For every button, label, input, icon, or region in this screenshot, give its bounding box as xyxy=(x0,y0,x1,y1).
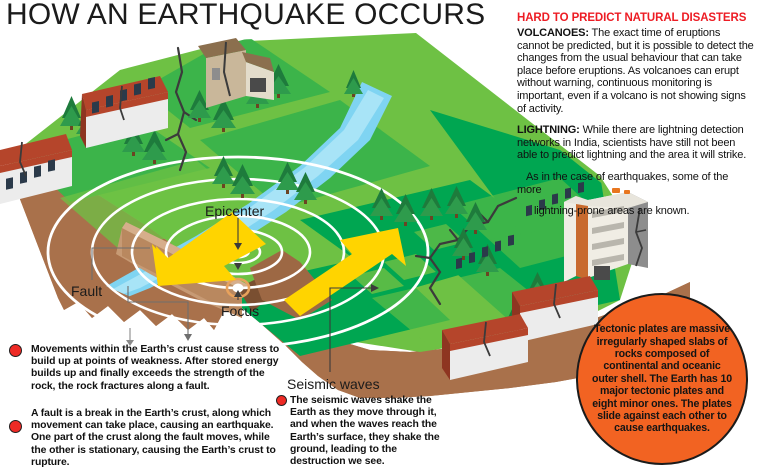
bullet-movements-text: Movements within the Earth’s crust cause… xyxy=(31,344,279,392)
label-fault: Fault xyxy=(71,283,102,299)
infographic-canvas: HOW AN EARTHQUAKE OCCURS Epicenter Focus… xyxy=(0,0,758,466)
bullet-fault: A fault is a break in the Earth’s crust,… xyxy=(31,408,283,469)
volcanoes-body: The exact time of eruptions cannot be pr… xyxy=(517,27,754,115)
bullet-dot-icon xyxy=(9,420,22,433)
bullet-dot-icon xyxy=(9,344,22,357)
tectonic-plates-callout: Tectonic plates are massive irregularly … xyxy=(576,293,748,465)
lightning-paragraph-3: lightning-prone areas are known. xyxy=(517,205,755,218)
hard-to-predict-panel: HARD TO PREDICT NATURAL DISASTERS VOLCAN… xyxy=(517,12,755,227)
volcanoes-label: VOLCANOES: xyxy=(517,27,589,39)
bullet-seismic-waves: The seismic waves shake the Earth as the… xyxy=(290,395,450,468)
lightning-label: LIGHTNING: xyxy=(517,124,580,136)
lightning-paragraph: LIGHTNING: While there are lightning det… xyxy=(517,124,755,162)
bullet-seismic-text: The seismic waves shake the Earth as the… xyxy=(290,395,440,467)
bullet-movements: Movements within the Earth’s crust cause… xyxy=(31,344,287,393)
lightning-paragraph-2: As in the case of earthquakes, some of t… xyxy=(517,171,755,196)
label-seismic-waves: Seismic waves xyxy=(287,376,380,392)
label-focus: Focus xyxy=(221,303,259,319)
label-epicenter: Epicenter xyxy=(205,203,264,219)
bullet-fault-text: A fault is a break in the Earth’s crust,… xyxy=(31,408,276,468)
page-title: HOW AN EARTHQUAKE OCCURS xyxy=(6,0,485,32)
panel-heading: HARD TO PREDICT NATURAL DISASTERS xyxy=(517,12,755,24)
bullet-dot-icon xyxy=(276,395,287,406)
volcanoes-paragraph: VOLCANOES: The exact time of eruptions c… xyxy=(517,27,755,115)
tectonic-plates-text: Tectonic plates are massive irregularly … xyxy=(592,323,732,435)
